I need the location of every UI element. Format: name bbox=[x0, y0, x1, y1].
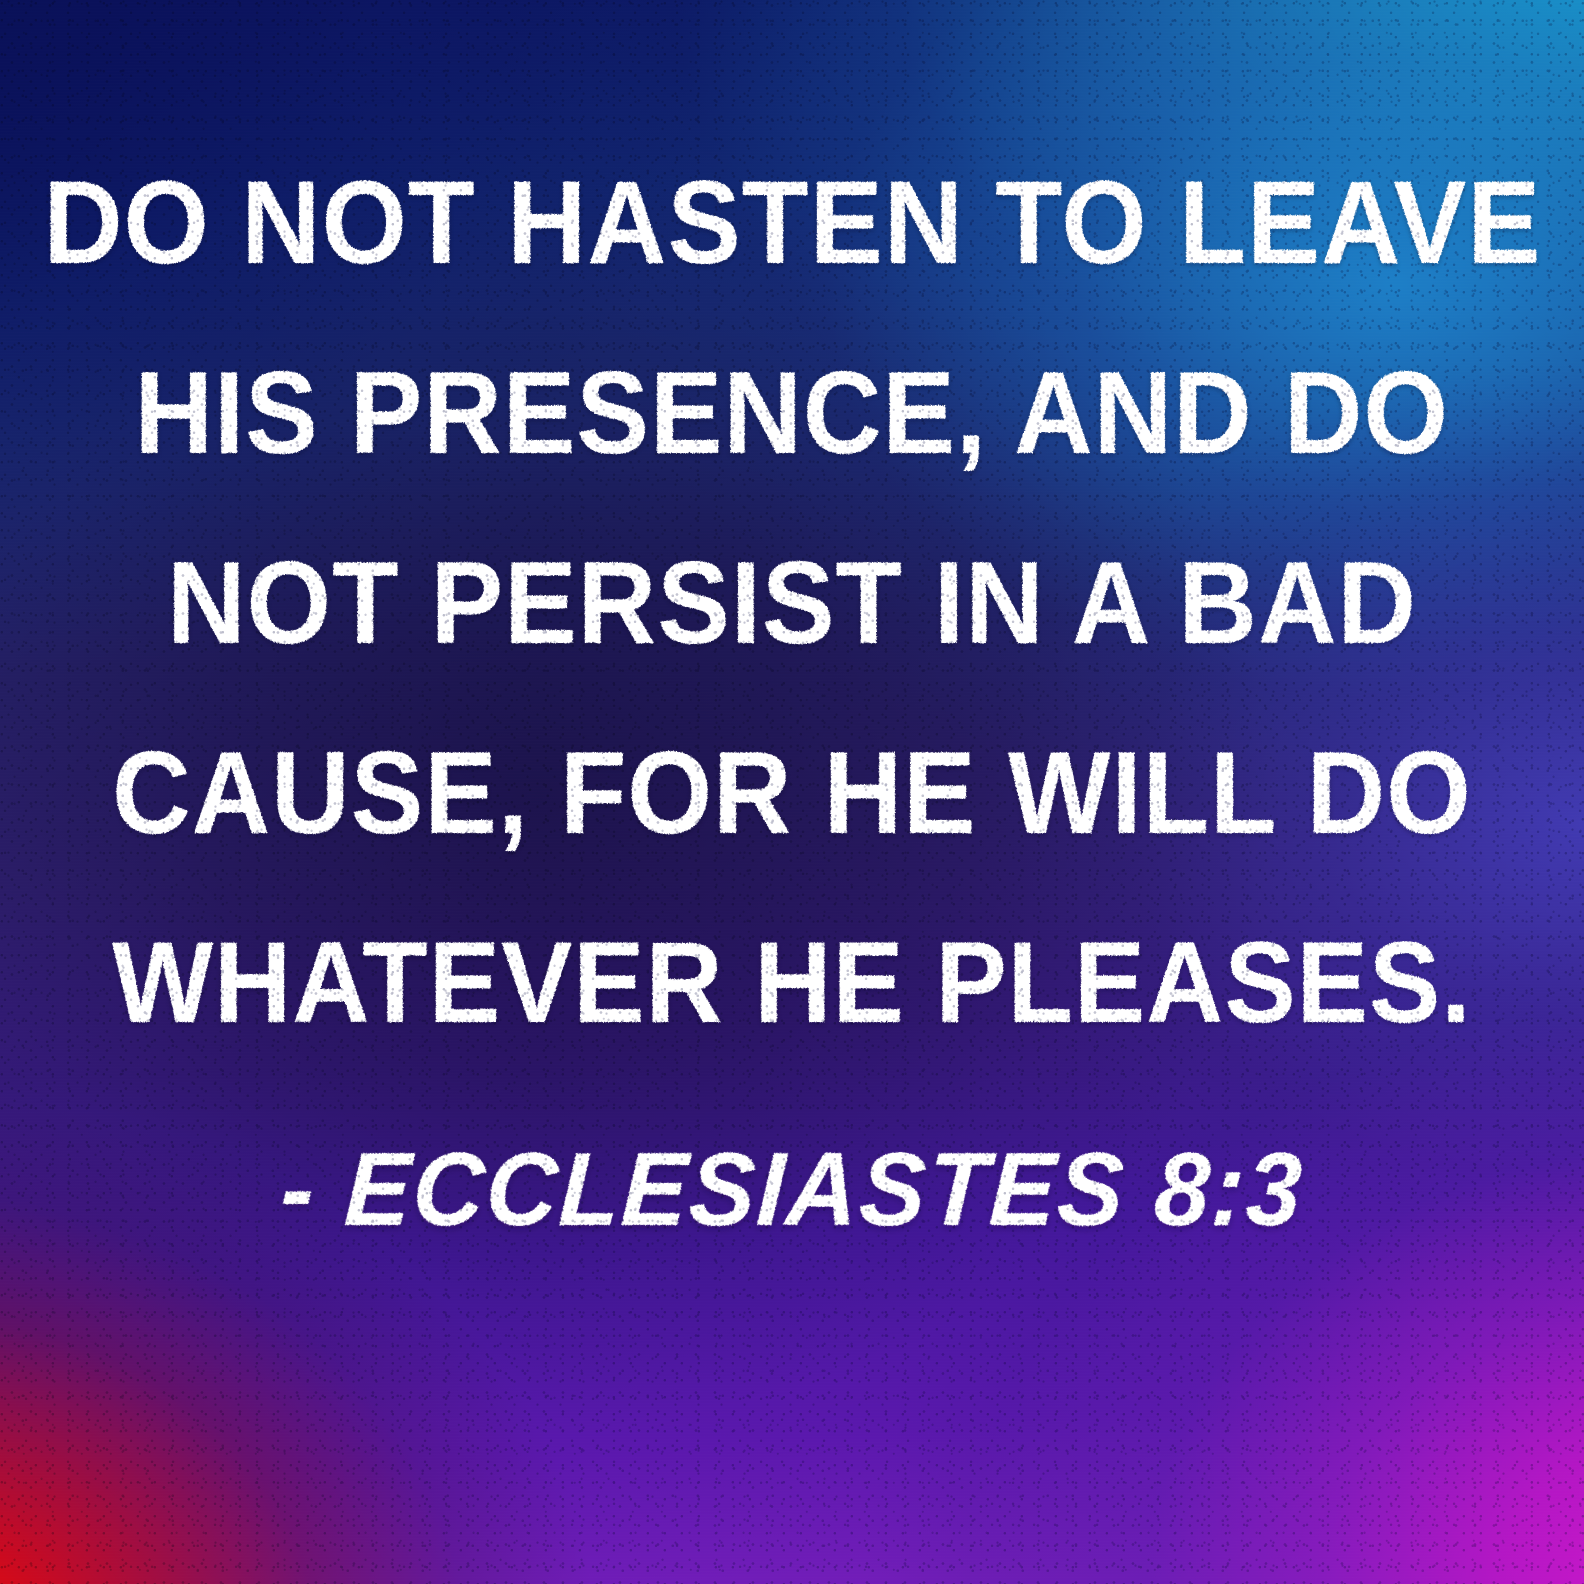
verse-text-block: DO NOT HASTEN TO LEAVE HIS PRESENCE, AND… bbox=[56, 128, 1528, 1078]
verse-attribution: - ECCLESIASTES 8:3 bbox=[278, 1130, 1306, 1250]
verse-line-2: HIS PRESENCE, AND DO bbox=[135, 318, 1449, 508]
verse-line-1: DO NOT HASTEN TO LEAVE bbox=[43, 128, 1541, 318]
verse-line-3: NOT PERSIST IN A BAD bbox=[167, 508, 1417, 698]
verse-line-5: WHATEVER HE PLEASES. bbox=[112, 888, 1472, 1078]
quote-content: DO NOT HASTEN TO LEAVE HIS PRESENCE, AND… bbox=[0, 0, 1584, 1584]
verse-line-4: CAUSE, FOR HE WILL DO bbox=[112, 698, 1472, 888]
quote-card: DO NOT HASTEN TO LEAVE HIS PRESENCE, AND… bbox=[0, 0, 1584, 1584]
